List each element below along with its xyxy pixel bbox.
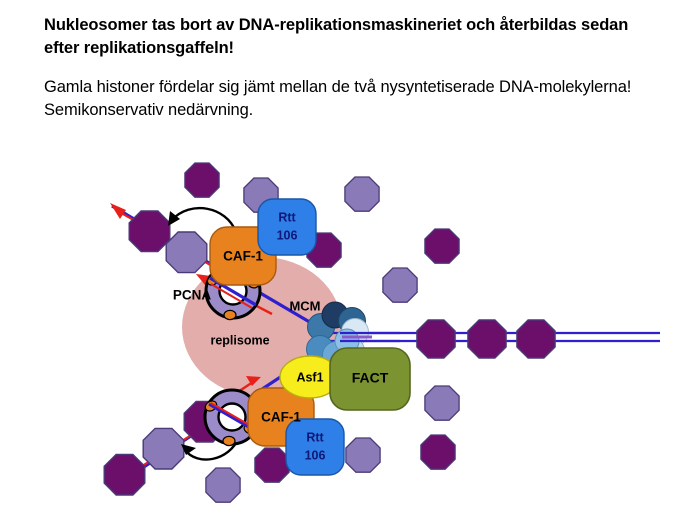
label-mcm: MCM: [289, 298, 320, 313]
nucleosome-old: [255, 448, 289, 482]
replication-fork-diagram: replisome PCNA MCM CAF-1 CAF-1 Rtt 106 R…: [0, 148, 694, 520]
label-asf1: Asf1: [296, 370, 323, 384]
nucleosome-new: [143, 428, 184, 469]
label-replisome: replisome: [210, 333, 269, 347]
page-title: Nukleosomer tas bort av DNA-replikations…: [44, 14, 664, 60]
nucleosome-strand-right: [417, 320, 555, 358]
nucleosome-new: [346, 438, 380, 472]
nucleosome-new: [166, 232, 207, 273]
nucleosome-new: [206, 468, 240, 502]
page-subtitle: Gamla histoner fördelar sig jämt mellan …: [44, 76, 664, 123]
nucleosome-old: [468, 320, 506, 358]
label-rtt106-lower-line1: Rtt: [306, 430, 324, 444]
pcna-subunit-junction: [223, 436, 235, 445]
label-rtt106-lower-line2: 106: [305, 448, 326, 462]
nucleosome-old: [104, 454, 145, 495]
rtt106-chaperone-lower[interactable]: [286, 419, 344, 475]
nucleosome-new: [345, 177, 379, 211]
nucleosome-old: [185, 163, 219, 197]
nucleosome-old: [417, 320, 455, 358]
nucleosome-old: [129, 211, 170, 252]
label-rtt106-upper-line1: Rtt: [278, 210, 296, 224]
label-caf1-lower: CAF-1: [261, 410, 301, 425]
label-fact: FACT: [352, 370, 389, 386]
nucleosome-new: [425, 386, 459, 420]
nucleosome-old: [517, 320, 555, 358]
label-rtt106-upper-line2: 106: [277, 228, 298, 242]
label-pcna: PCNA: [173, 288, 212, 303]
nucleosome-old: [421, 435, 455, 469]
rtt106-chaperone-upper[interactable]: [258, 199, 316, 255]
pcna-subunit-junction: [224, 310, 236, 319]
slide-canvas: Nukleosomer tas bort av DNA-replikations…: [0, 0, 694, 520]
nucleosome-old: [425, 229, 459, 263]
nucleosome-new: [383, 268, 417, 302]
nucleosome-strand-upper: [129, 211, 207, 273]
label-caf1-upper: CAF-1: [223, 249, 263, 264]
